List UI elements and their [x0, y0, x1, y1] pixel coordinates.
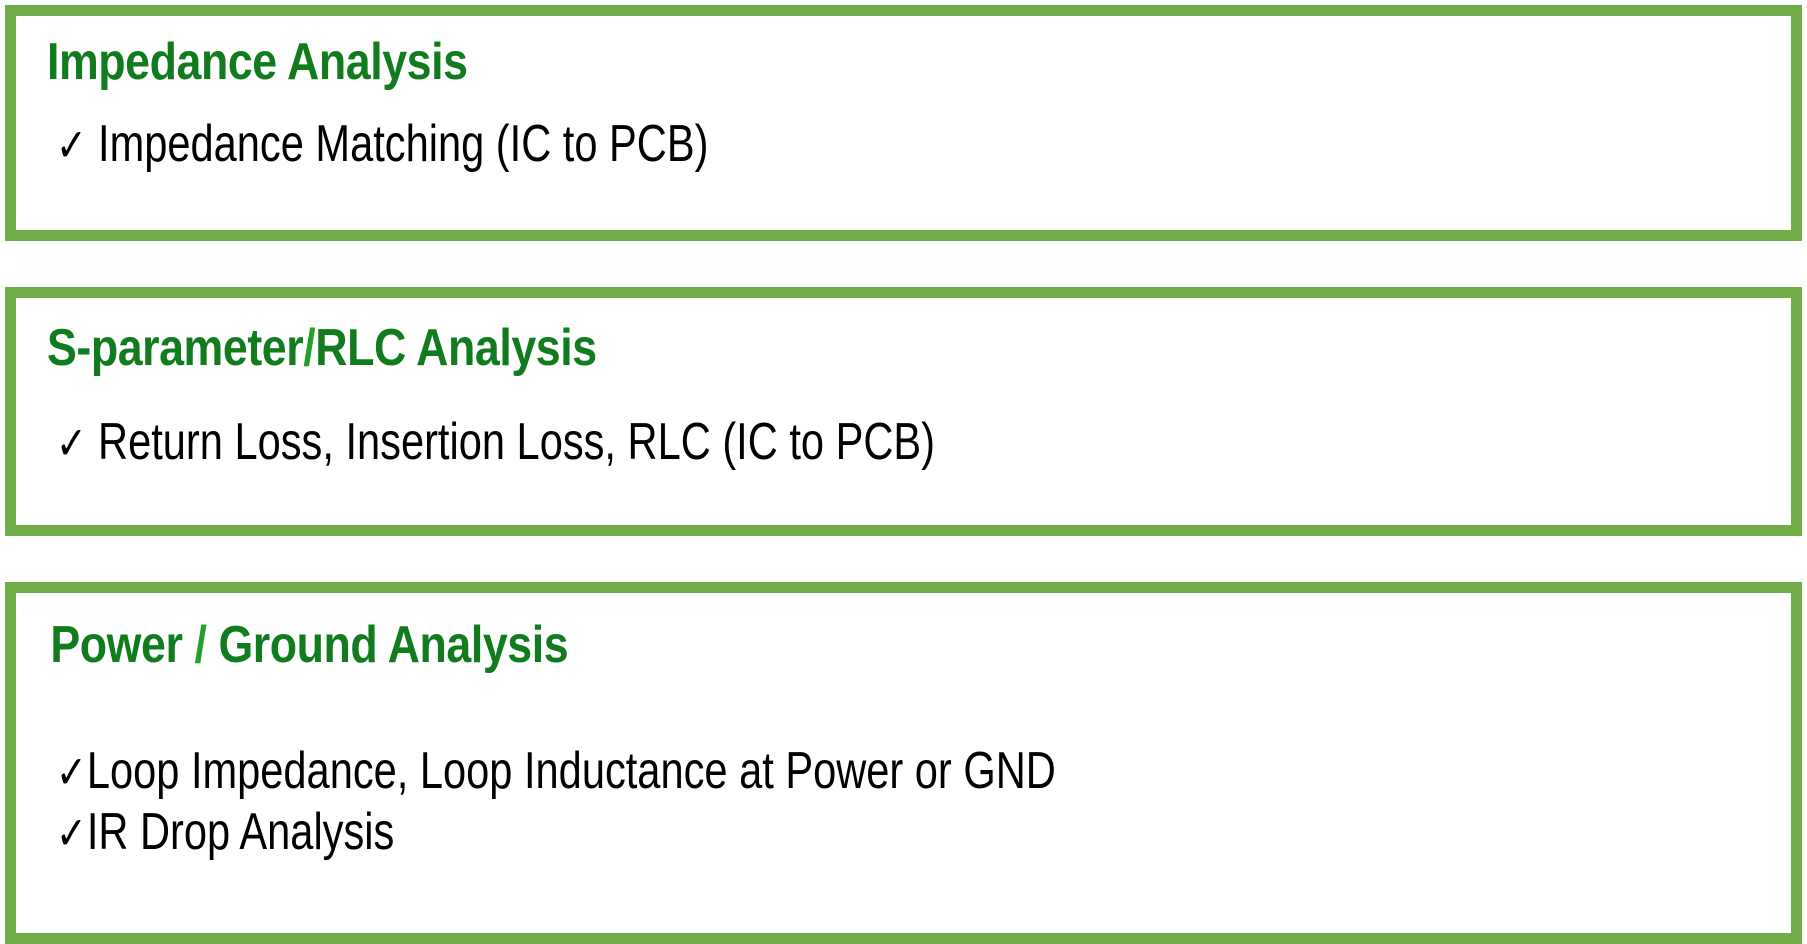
- checkmark-icon: ✓: [56, 745, 87, 799]
- checkmark-icon: ✓: [56, 118, 98, 172]
- panel-title-power-ground-analysis: Power / Ground Analysis: [16, 593, 1543, 671]
- bullet-label: Impedance Matching (IC to PCB): [98, 115, 708, 173]
- panel-title-impedance-analysis: Impedance Analysis: [16, 16, 1543, 88]
- bullet-list-impedance-analysis: ✓Impedance Matching (IC to PCB): [16, 88, 1791, 175]
- title-separator-slash: /: [303, 319, 315, 377]
- panel-power-ground-analysis: Power / Ground Analysis ✓Loop Impedance,…: [5, 582, 1802, 944]
- title-text-run: Power: [50, 616, 194, 674]
- checkmark-icon: ✓: [56, 806, 87, 860]
- checkmark-icon: ✓: [56, 416, 98, 470]
- bullet-list-s-parameter-rlc-analysis: ✓Return Loss, Insertion Loss, RLC (IC to…: [16, 374, 1791, 473]
- bullet-label: Return Loss, Insertion Loss, RLC (IC to …: [98, 413, 935, 471]
- analysis-capability-panels: Impedance Analysis ✓Impedance Matching (…: [0, 0, 1807, 944]
- panel-title-s-parameter-rlc-analysis: S-parameter/RLC Analysis: [16, 298, 1543, 374]
- title-text-run: Impedance Analysis: [47, 33, 468, 91]
- bullet-item: ✓Impedance Matching (IC to PCB): [56, 114, 1444, 175]
- bullet-item: ✓Loop Impedance, Loop Inductance at Powe…: [56, 741, 1444, 802]
- panel-impedance-analysis: Impedance Analysis ✓Impedance Matching (…: [5, 5, 1802, 241]
- bullet-label: IR Drop Analysis: [87, 803, 395, 861]
- bullet-label: Loop Impedance, Loop Inductance at Power…: [87, 742, 1056, 800]
- bullet-list-power-ground-analysis: ✓Loop Impedance, Loop Inductance at Powe…: [16, 671, 1791, 864]
- title-text-run: RLC Analysis: [315, 319, 596, 377]
- title-separator-slash: /: [194, 616, 206, 674]
- panel-s-parameter-rlc-analysis: S-parameter/RLC Analysis ✓Return Loss, I…: [5, 287, 1802, 536]
- bullet-item: ✓Return Loss, Insertion Loss, RLC (IC to…: [56, 412, 1444, 473]
- title-text-run: Ground Analysis: [206, 616, 568, 674]
- bullet-item: ✓IR Drop Analysis: [56, 802, 1444, 863]
- title-text-run: S-parameter: [47, 319, 303, 377]
